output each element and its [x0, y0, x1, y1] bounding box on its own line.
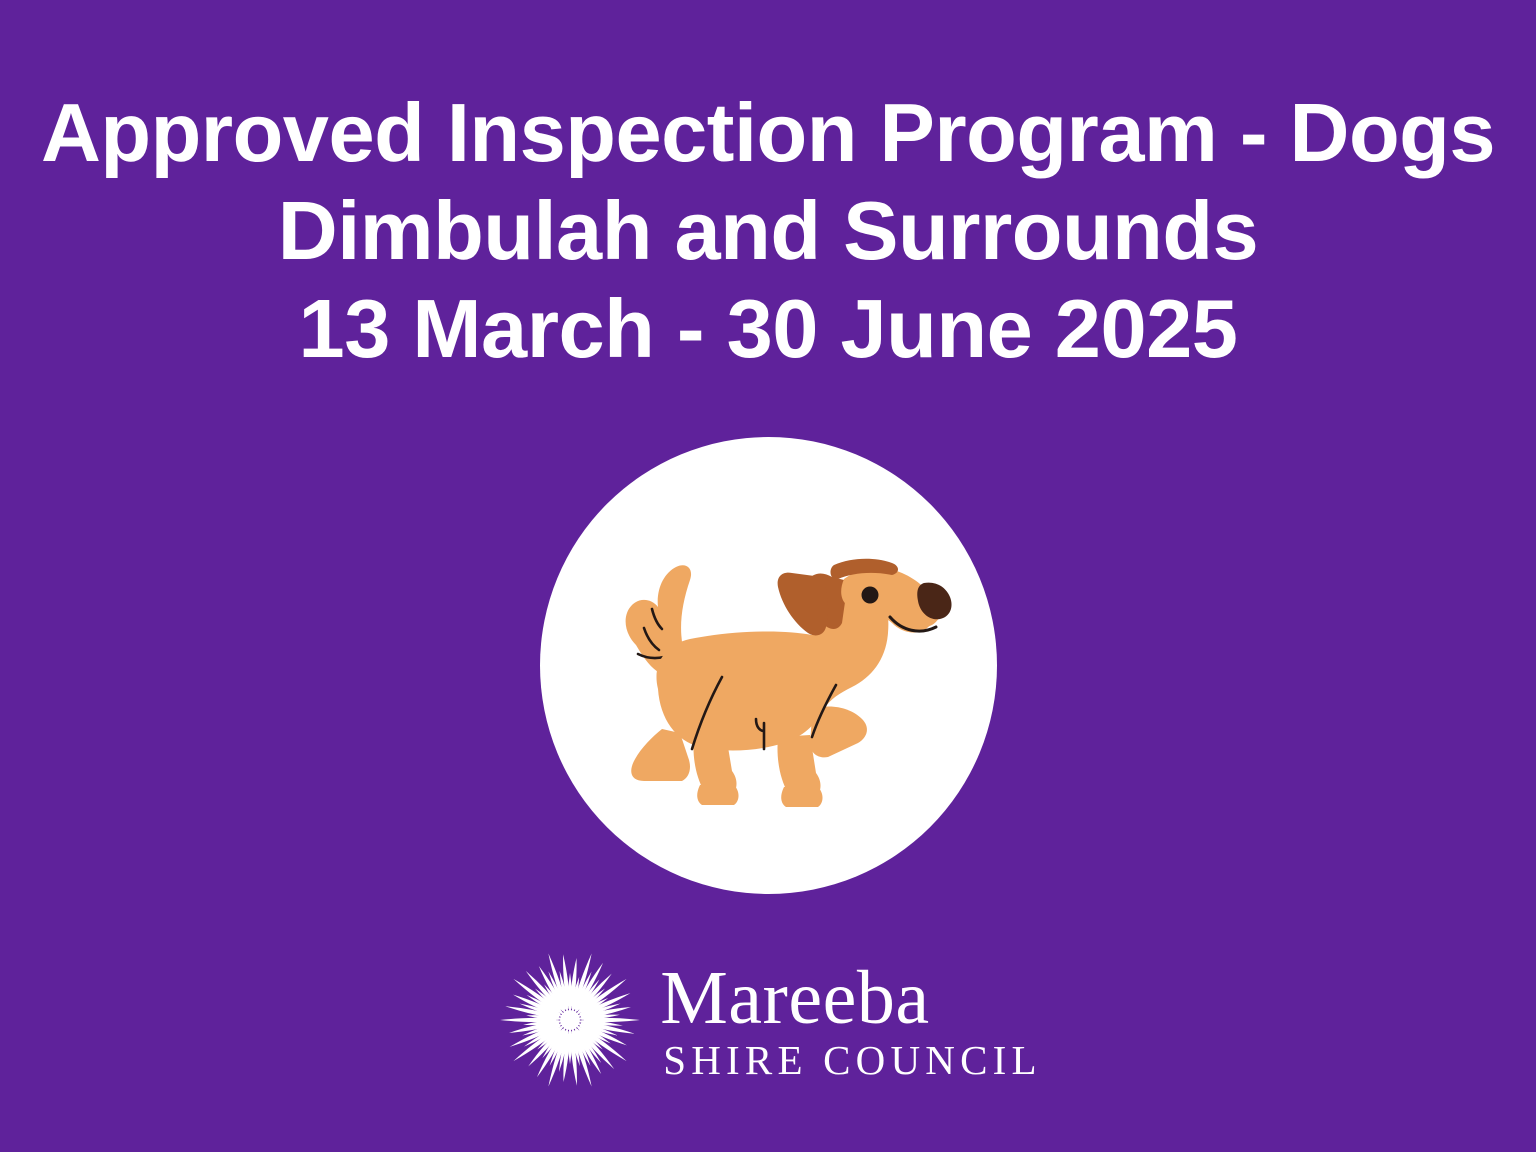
headline-line-2: Dimbulah and Surrounds	[0, 182, 1536, 280]
dog-eye	[862, 587, 879, 604]
headline-block: Approved Inspection Program - Dogs Dimbu…	[0, 84, 1536, 378]
headline-line-1: Approved Inspection Program - Dogs	[0, 84, 1536, 182]
starburst-core	[560, 1010, 580, 1030]
logo-wordmark: Mareeba SHIRE COUNCIL	[660, 956, 1042, 1084]
logo-subtitle: SHIRE COUNCIL	[660, 1036, 1042, 1084]
headline-line-3: 13 March - 30 June 2025	[0, 280, 1536, 378]
dog-near-ear	[778, 573, 828, 636]
logo-name: Mareeba	[660, 960, 929, 1036]
council-logo: Mareeba SHIRE COUNCIL	[0, 944, 1536, 1096]
walking-dog-illustration	[540, 437, 997, 894]
dog-front-near-paw	[781, 787, 822, 807]
poster-canvas: Approved Inspection Program - Dogs Dimbu…	[0, 0, 1536, 1152]
mareeba-starburst-flower-icon	[494, 944, 646, 1096]
dog-medallion-circle	[540, 437, 997, 894]
dog-rear-near-paw	[697, 785, 738, 805]
